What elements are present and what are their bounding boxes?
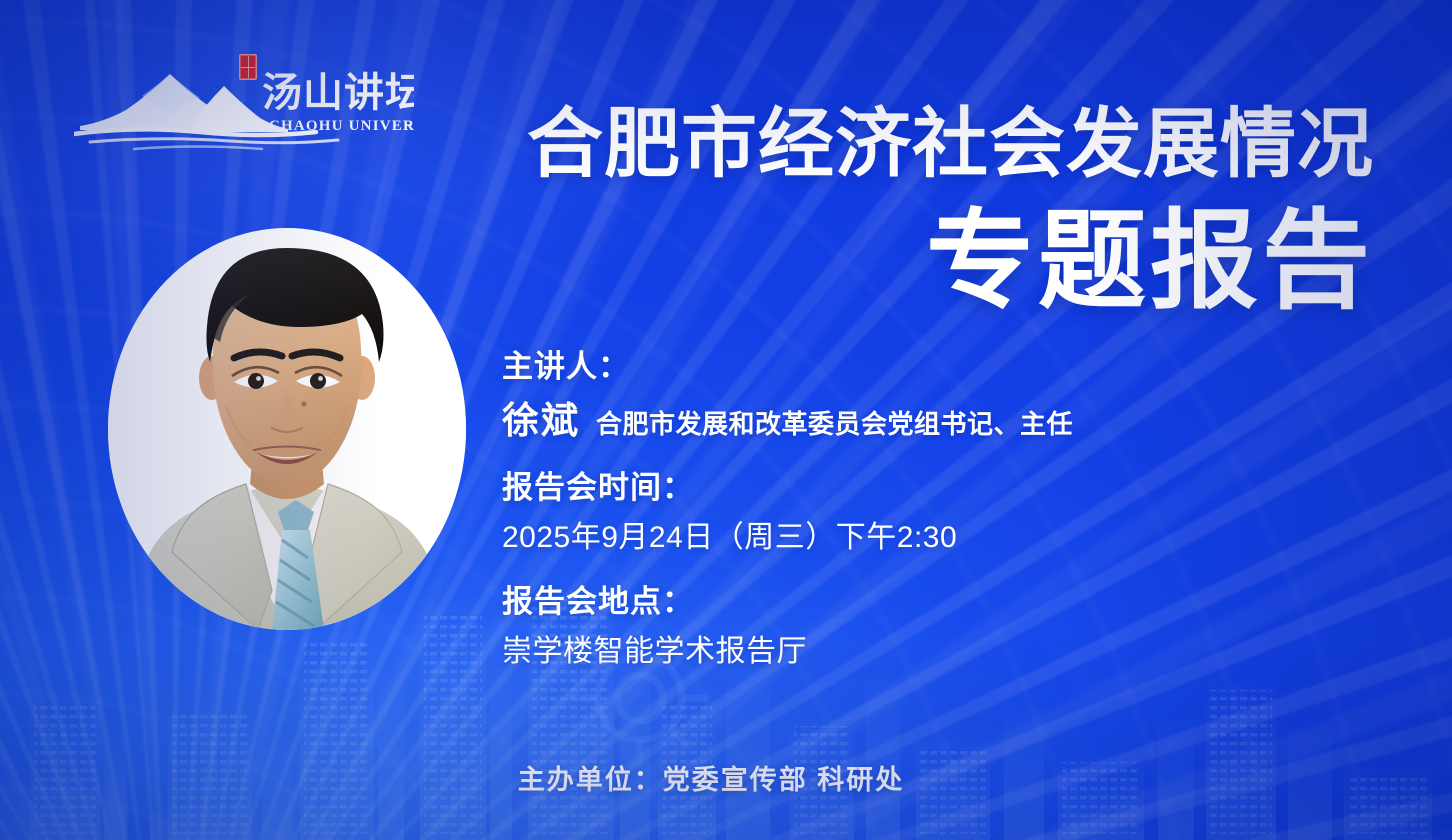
background-vignette [0, 0, 1452, 840]
event-poster: 汤山讲坛 CHAOHU UNIVERSITY [0, 0, 1452, 840]
